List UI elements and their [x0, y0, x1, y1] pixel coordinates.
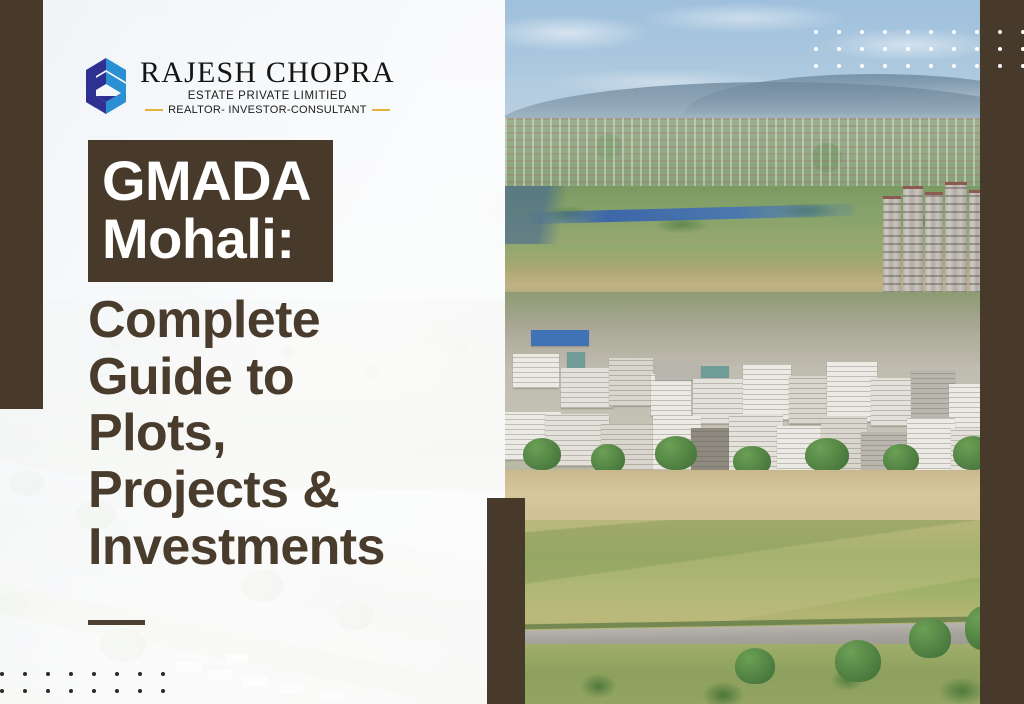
title-highlight-box: GMADA Mohali:: [88, 140, 333, 282]
gold-dash-left-icon: [145, 109, 163, 111]
dot-grid-bottom-left: [0, 672, 165, 693]
dot-grid-top-right: [814, 30, 1024, 68]
subtitle-line-2: Guide to: [88, 349, 488, 406]
chevron-stack-logo-icon: [84, 56, 130, 118]
gold-dash-right-icon: [372, 109, 390, 111]
subtitle-line-3: Plots,: [88, 405, 488, 462]
brand-subtitle: ESTATE PRIVATE LIMITIED: [188, 90, 347, 102]
subtitle-line-5: Investments: [88, 519, 488, 576]
decor-bar-middle: [487, 498, 525, 704]
subtitle-block: Complete Guide to Plots, Projects & Inve…: [88, 292, 488, 575]
decor-bar-right: [980, 0, 1024, 704]
title-line-1: GMADA: [102, 152, 311, 210]
poster-canvas: RAJESH CHOPRA ESTATE PRIVATE LIMITIED RE…: [0, 0, 1024, 704]
subtitle-underline-rule: [88, 620, 145, 625]
brand-logo: RAJESH CHOPRA ESTATE PRIVATE LIMITIED RE…: [84, 56, 395, 118]
brand-name: RAJESH CHOPRA: [140, 58, 395, 89]
brand-tagline: REALTOR- INVESTOR-CONSULTANT: [168, 104, 367, 116]
decor-bar-left: [0, 0, 43, 409]
subtitle-line-4: Projects &: [88, 462, 488, 519]
subtitle-line-1: Complete: [88, 292, 488, 349]
title-line-2: Mohali:: [102, 210, 311, 268]
right-cityscape-photo: [505, 0, 1024, 704]
